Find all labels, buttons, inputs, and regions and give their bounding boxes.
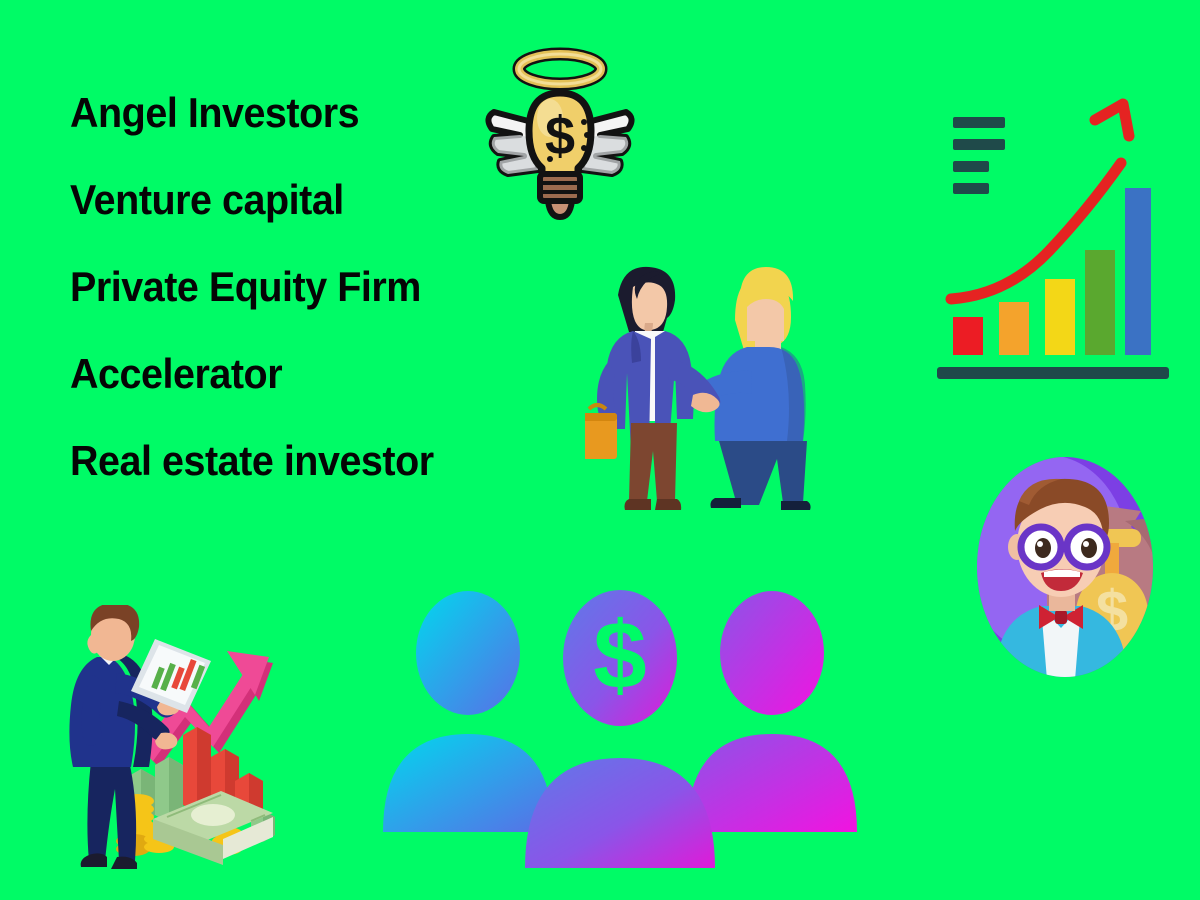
bar-3 (1045, 279, 1075, 355)
list-item-real-estate-investor: Real estate investor (70, 440, 559, 482)
investor-avatar-icon: $ (975, 455, 1155, 680)
bar-5 (1125, 188, 1151, 355)
bar-4 (1085, 250, 1115, 355)
bar-2 (999, 302, 1029, 355)
angel-investor-winged-lightbulb-icon: $ (480, 36, 640, 226)
bar-1 (953, 317, 983, 355)
legend-line-4 (953, 183, 989, 194)
business-handshake-illustration (585, 235, 830, 520)
dollar-sign-glyph: $ (593, 602, 646, 709)
group-person-right (687, 591, 857, 832)
legend-line-1 (953, 117, 1005, 128)
group-person-left (383, 591, 553, 832)
group-person-center: $ (525, 590, 715, 868)
investor-group-icon: $ (375, 580, 865, 880)
growth-bar-chart-with-arrow (935, 85, 1175, 390)
poster-canvas: Angel Investors Venture capital Private … (0, 0, 1200, 900)
legend-line-2 (953, 139, 1005, 150)
list-item-private-equity-firm: Private Equity Firm (70, 266, 559, 308)
legend-line-3 (953, 161, 989, 172)
list-item-accelerator: Accelerator (70, 353, 559, 395)
chart-baseline (937, 367, 1169, 379)
financial-analyst-illustration (55, 605, 305, 885)
